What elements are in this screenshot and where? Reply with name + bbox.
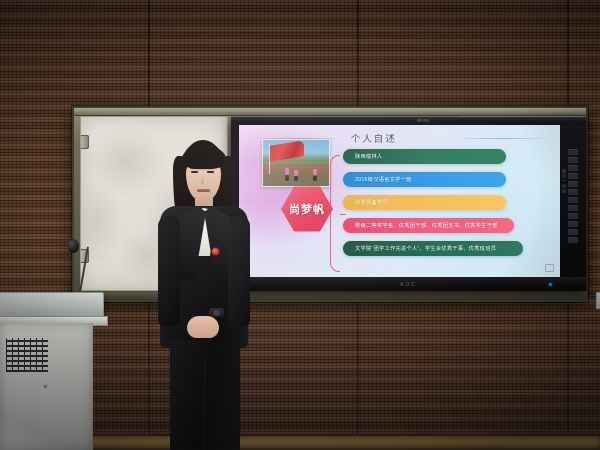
- arm-left: [158, 216, 180, 326]
- trousers: [170, 340, 240, 450]
- display-side-button[interactable]: [568, 173, 578, 179]
- slide-bar-5-label: 文学院“团学工作先进个人”、学生会优秀干事、优秀班班员: [343, 245, 496, 252]
- interactive-flat-panel-display[interactable]: 个人自述 尚梦帆: [231, 117, 586, 291]
- display-bottom-bezel: AOC: [231, 277, 586, 291]
- camera-icon: [416, 119, 430, 122]
- hair-fringe: [181, 145, 227, 169]
- mouth: [197, 189, 210, 192]
- display-side-button[interactable]: [568, 205, 578, 211]
- slide-bar-3-label: 中共预备党员: [343, 199, 388, 206]
- room-photo: 个人自述 尚梦帆: [0, 0, 600, 450]
- slide-bar-3: 中共预备党员: [343, 195, 506, 210]
- slide-bar-list: 陕西榆林人 2016级汉语言文学一班 中共预备党员 校级二等奖学金、优秀团干部、…: [343, 149, 552, 264]
- name-hexagon-badge: 尚梦帆: [281, 185, 333, 233]
- display-side-button[interactable]: [568, 181, 578, 187]
- curly-brace-decoration: [330, 155, 340, 272]
- slide-title: 个人自述: [351, 131, 397, 145]
- red-flag-icon: [270, 140, 304, 161]
- slide-bar-2: 2016级汉语言文学一班: [343, 172, 506, 187]
- display-side-button[interactable]: [568, 213, 578, 219]
- display-side-button[interactable]: [568, 189, 578, 195]
- slide-bar-4: 校级二等奖学金、优秀团干部、优秀团支书、优秀学生干部: [343, 218, 514, 233]
- podium-speaker-grille-icon: [6, 338, 48, 372]
- board-bottom-rail: [74, 292, 586, 300]
- clasped-hands: [187, 316, 219, 338]
- display-side-button[interactable]: [568, 149, 578, 155]
- slide-bar-2-label: 2016级汉语言文学一班: [343, 176, 412, 183]
- display-side-button[interactable]: [568, 157, 578, 163]
- arm-right: [228, 216, 250, 326]
- display-side-button[interactable]: [568, 197, 578, 203]
- photo-person-3: [313, 169, 317, 181]
- display-top-bezel: [231, 117, 586, 123]
- display-side-button[interactable]: [568, 229, 578, 235]
- slide-canvas[interactable]: 个人自述 尚梦帆: [239, 125, 560, 277]
- presenter-name: 尚梦帆: [289, 201, 325, 217]
- slide-photo-thumbnail: [262, 139, 330, 187]
- podium-lock-icon[interactable]: [44, 385, 47, 388]
- board-top-rail: [74, 108, 586, 116]
- microphone-icon[interactable]: [68, 239, 79, 253]
- slide-corner-logo-icon: [545, 264, 554, 272]
- photo-person-2: [294, 170, 298, 181]
- slide-bar-5: 文学院“团学工作先进个人”、学生会优秀干事、优秀班班员: [343, 241, 523, 256]
- slide-bar-1: 陕西榆林人: [343, 149, 506, 164]
- power-led-icon: [549, 283, 552, 286]
- podium-top-notch: [596, 292, 600, 309]
- title-rule-right: [454, 138, 550, 139]
- whiteboard-clip-top[interactable]: [80, 135, 89, 149]
- display-side-button-strip[interactable]: [568, 131, 578, 273]
- slide-bar-1-label: 陕西榆林人: [343, 153, 382, 160]
- board-assembly-frame: 个人自述 尚梦帆: [72, 106, 588, 302]
- display-side-button[interactable]: [568, 221, 578, 227]
- party-emblem-badge-icon: [212, 248, 219, 255]
- display-side-button[interactable]: [568, 237, 578, 243]
- display-side-button[interactable]: [568, 165, 578, 171]
- display-brand-logo: AOC: [400, 282, 417, 288]
- slide-bar-4-label: 校级二等奖学金、优秀团干部、优秀团支书、优秀学生干部: [343, 222, 498, 229]
- nose: [201, 176, 204, 184]
- display-side-label: 触控一体机: [562, 169, 567, 194]
- photo-person-1: [285, 168, 289, 181]
- presenter-figure: [152, 140, 256, 450]
